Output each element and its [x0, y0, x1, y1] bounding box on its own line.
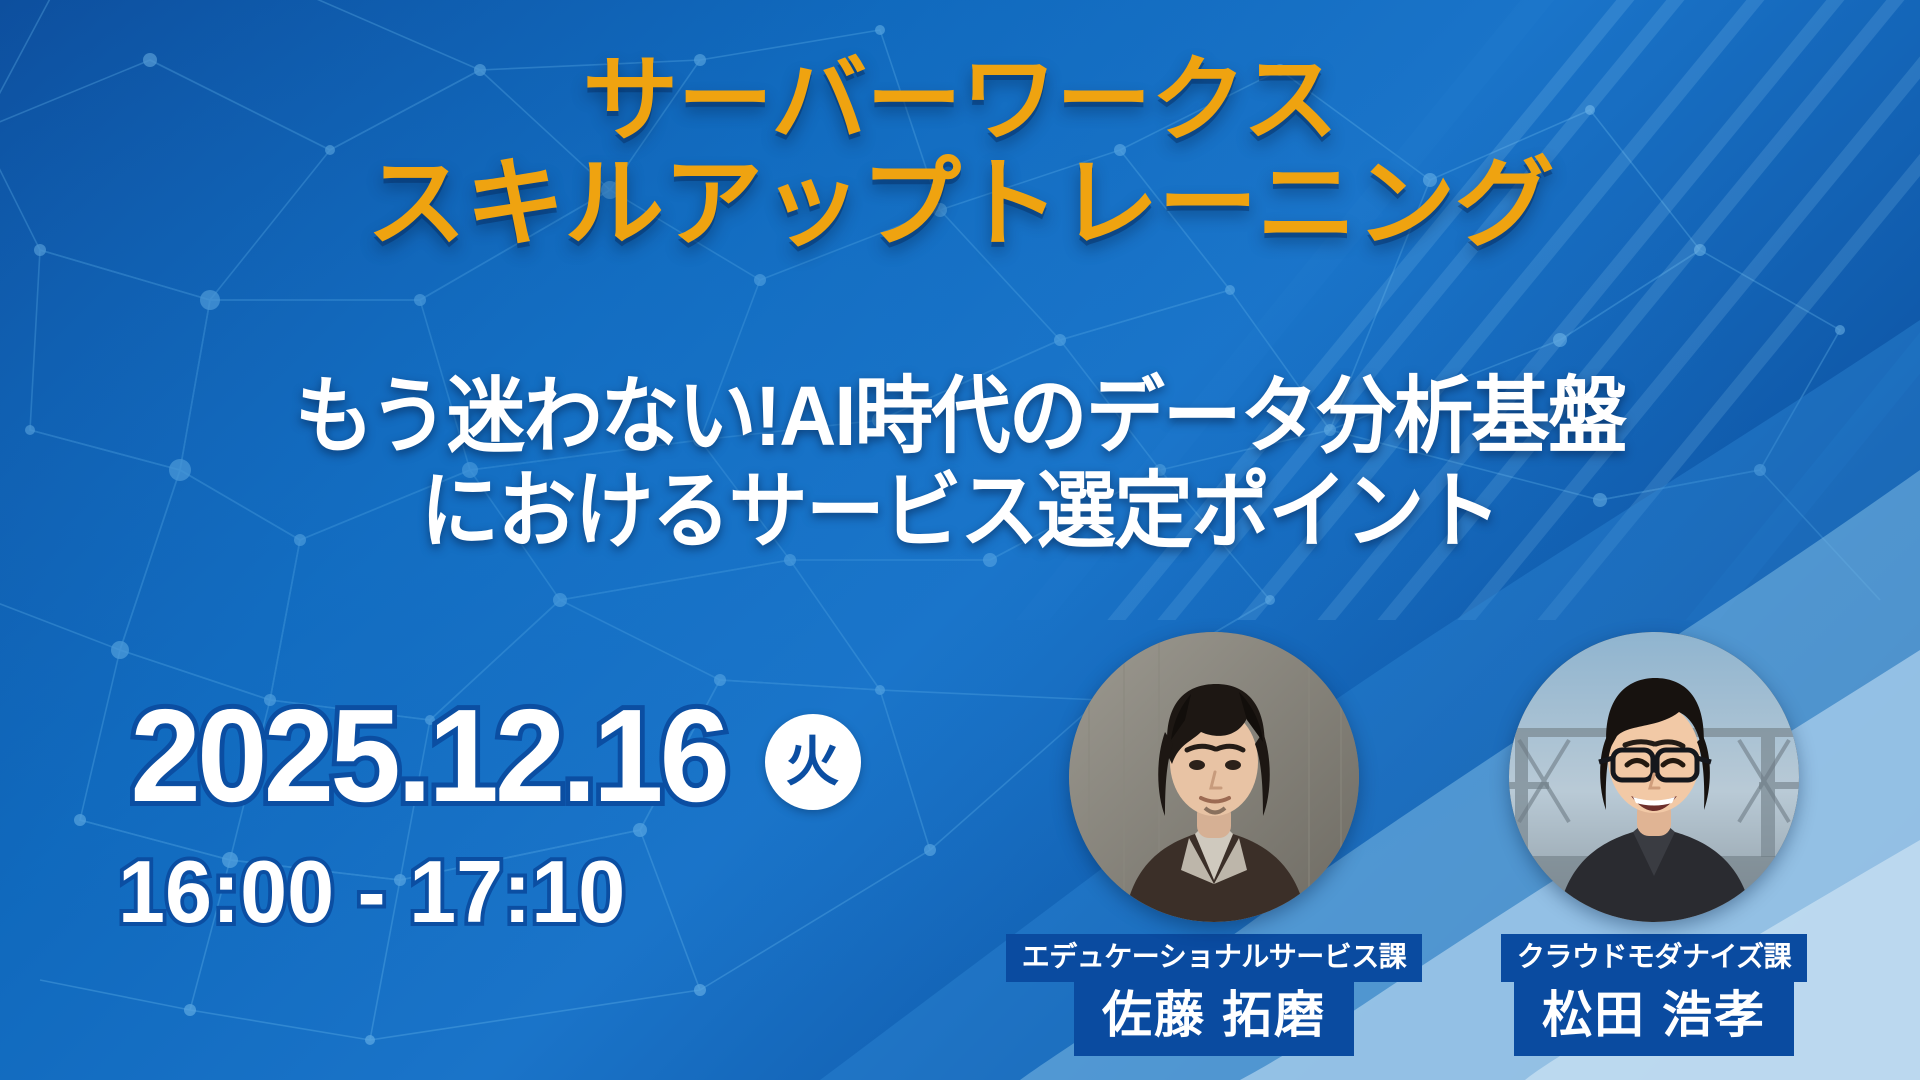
- speaker-photo-2: [1509, 632, 1799, 922]
- event-date: 2025.12.16: [130, 690, 726, 822]
- speaker-card: エデュケーショナルサービス課 佐藤 拓磨: [1014, 632, 1414, 1056]
- session-subtitle-block: もう迷わない!AI時代のデータ分析基盤 におけるサービス選定ポイント: [0, 372, 1920, 556]
- headline-block: サーバーワークス スキルアップトレーニング: [0, 52, 1920, 254]
- speaker-photo-1: [1069, 632, 1359, 922]
- avatar: [1069, 632, 1359, 922]
- webinar-banner: サーバーワークス スキルアップトレーニング もう迷わない!AI時代のデータ分析基…: [0, 0, 1920, 1080]
- event-time: 16:00 - 17:10: [118, 848, 831, 936]
- date-row: 2025.12.16 火: [118, 690, 861, 822]
- schedule-block: 2025.12.16 火 16:00 - 17:10: [118, 690, 861, 936]
- speaker-name: 松田 浩孝: [1514, 982, 1794, 1056]
- speaker-name: 佐藤 拓磨: [1074, 982, 1354, 1056]
- speaker-department: クラウドモダナイズ課: [1501, 934, 1807, 982]
- program-title-line2: スキルアップトレーニング: [0, 154, 1920, 254]
- session-subtitle-line1: もう迷わない!AI時代のデータ分析基盤: [58, 372, 1863, 461]
- speakers-block: エデュケーショナルサービス課 佐藤 拓磨: [1014, 632, 1854, 1056]
- avatar: [1509, 632, 1799, 922]
- speaker-department: エデュケーショナルサービス課: [1006, 934, 1422, 982]
- day-of-week-badge: 火: [765, 714, 861, 810]
- program-title-line1: サーバーワークス: [0, 52, 1920, 148]
- speaker-card: クラウドモダナイズ課 松田 浩孝: [1454, 632, 1854, 1056]
- session-subtitle-line2: におけるサービス選定ポイント: [58, 467, 1863, 556]
